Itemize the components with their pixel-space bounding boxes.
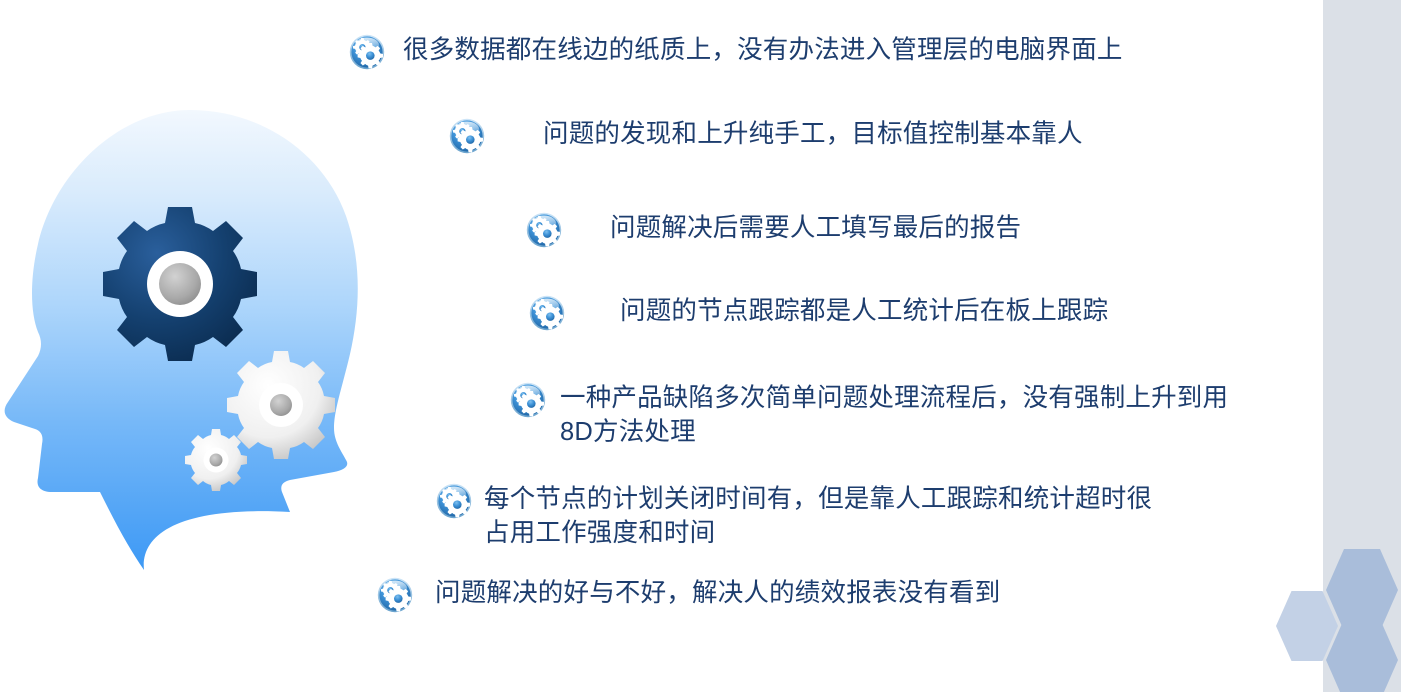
bullet-row: 一种产品缺陷多次简单问题处理流程后，没有强制上升到用 8D方法处理 <box>510 381 1338 449</box>
bullet-row: 很多数据都在线边的纸质上，没有办法进入管理层的电脑界面上 <box>349 33 1123 70</box>
gears-bullet-icon <box>377 577 413 613</box>
gears-bullet-icon <box>349 34 385 70</box>
bullet-text: 问题解决的好与不好，解决人的绩效报表没有看到 <box>435 576 1000 610</box>
large-dark-gear-icon <box>103 207 257 361</box>
gears-bullet-icon <box>449 118 485 154</box>
gears-bullet-icon <box>526 212 562 248</box>
bullet-row: 问题的节点跟踪都是人工统计后在板上跟踪 <box>529 294 1108 331</box>
gears-bullet-icon <box>436 483 472 519</box>
bullet-text: 每个节点的计划关闭时间有，但是靠人工跟踪和统计超时很 占用工作强度和时间 <box>484 482 1152 550</box>
right-side-panel <box>1323 0 1401 692</box>
bullet-text: 一种产品缺陷多次简单问题处理流程后，没有强制上升到用 8D方法处理 <box>560 381 1228 449</box>
bullet-text: 问题解决后需要人工填写最后的报告 <box>610 211 1021 245</box>
gears-bullet-icon <box>510 382 546 418</box>
bullet-text: 问题的节点跟踪都是人工统计后在板上跟踪 <box>620 294 1108 328</box>
bullet-row: 问题解决后需要人工填写最后的报告 <box>526 211 1021 248</box>
gears-bullet-icon <box>529 295 565 331</box>
bullet-row: 每个节点的计划关闭时间有，但是靠人工跟踪和统计超时很 占用工作强度和时间 <box>436 482 1236 550</box>
bullet-text: 很多数据都在线边的纸质上，没有办法进入管理层的电脑界面上 <box>403 33 1123 67</box>
bullet-text: 问题的发现和上升纯手工，目标值控制基本靠人 <box>543 117 1083 151</box>
bullet-row: 问题解决的好与不好，解决人的绩效报表没有看到 <box>377 576 1000 613</box>
slide-canvas: 很多数据都在线边的纸质上，没有办法进入管理层的电脑界面上 问题的发现和上升纯手工… <box>0 0 1401 692</box>
medium-white-gear-icon <box>227 351 335 459</box>
head-silhouette-graphic <box>0 92 366 604</box>
bullet-row: 问题的发现和上升纯手工，目标值控制基本靠人 <box>449 117 1083 154</box>
